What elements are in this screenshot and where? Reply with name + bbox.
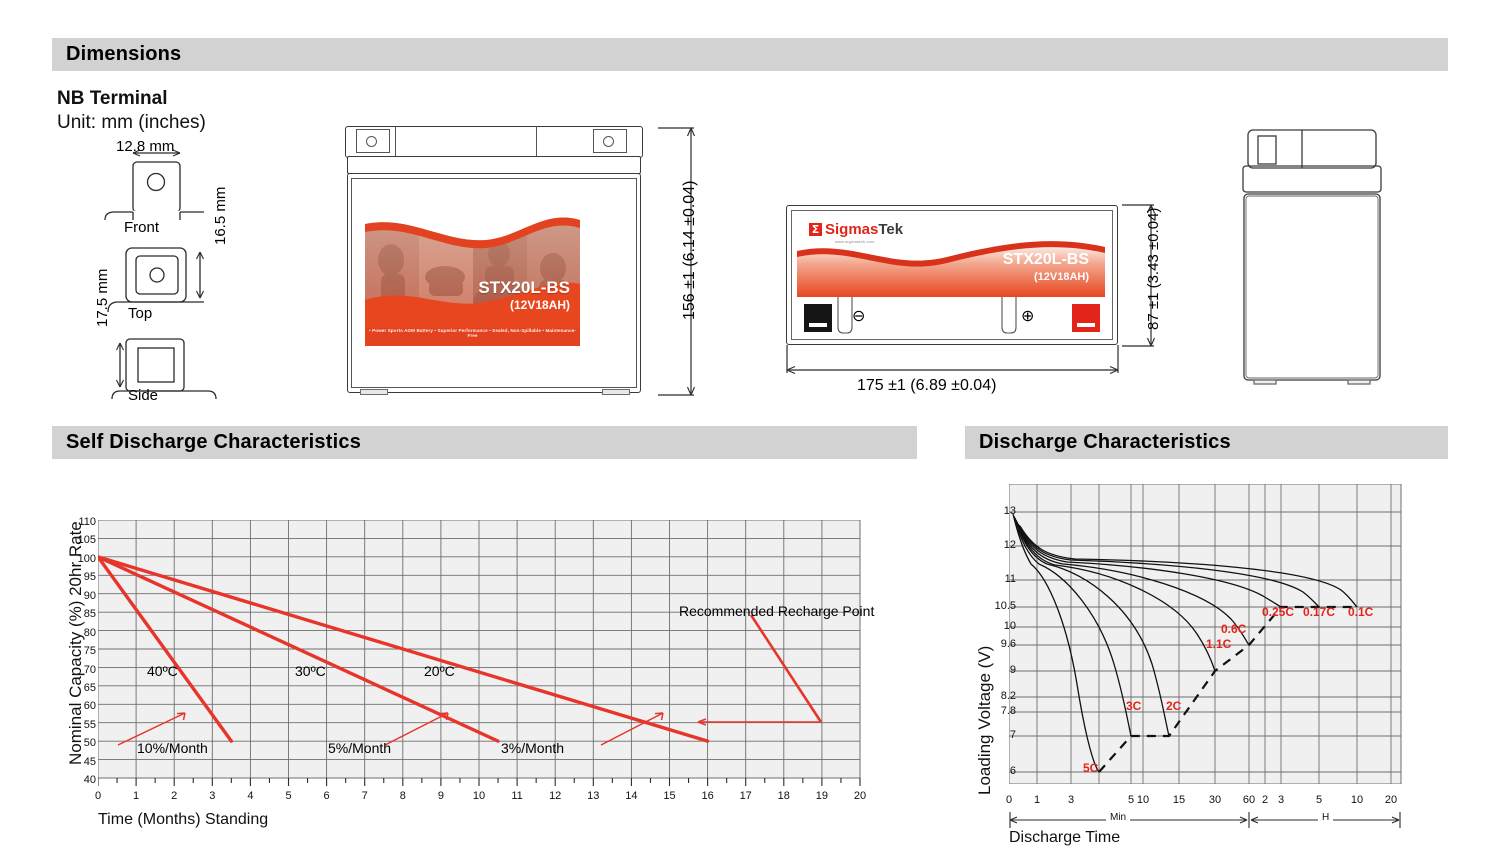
y-tick: 100 <box>70 550 96 568</box>
y-tick: 9 <box>982 664 1016 676</box>
brand-tek: Tek <box>878 221 903 238</box>
y-tick: 75 <box>70 642 96 660</box>
y-tick: 10 <box>982 620 1016 632</box>
y-tick: 13 <box>982 505 1016 517</box>
x-tick: 10 <box>1349 794 1365 806</box>
x-tick: 0 <box>1001 794 1017 806</box>
annotation-30c: 30ºC <box>295 663 326 679</box>
label-artwork <box>365 182 580 346</box>
terminal-height-label: 16.5 mm <box>212 187 229 245</box>
x-tick: 5 <box>1311 794 1327 806</box>
y-tick: 55 <box>70 716 96 734</box>
unit-note: Unit: mm (inches) <box>57 112 206 134</box>
y-tick: 110 <box>70 513 96 531</box>
annotation-20c: 20ºC <box>424 663 455 679</box>
y-tick: 70 <box>70 661 96 679</box>
cap-divider-right <box>536 126 537 158</box>
terminal-side-label: Side <box>128 387 158 404</box>
battery-spec-front: (12V18AH) <box>365 298 570 312</box>
curve-label-2c: 2C <box>1166 699 1181 713</box>
y-tick: 60 <box>70 697 96 715</box>
section-header-self-discharge: Self Discharge Characteristics <box>52 426 917 459</box>
y-tick: 65 <box>70 679 96 697</box>
y-tick: 9.6 <box>982 638 1016 650</box>
self-discharge-xlabel: Time (Months) Standing <box>98 811 860 829</box>
battery-end-view <box>1232 128 1400 400</box>
y-tick: 12 <box>982 539 1016 551</box>
range-label-hour: H <box>1318 812 1333 823</box>
self-discharge-title: Self Discharge Characteristics <box>52 431 361 454</box>
terminal-right-hole <box>603 136 614 147</box>
y-tick: 7.8 <box>982 705 1016 717</box>
cap-divider-left <box>395 126 396 158</box>
curve-label-5c: 5C <box>1083 761 1098 775</box>
y-tick: 85 <box>70 605 96 623</box>
terminal-depth-label: 17.5 mm <box>94 269 111 327</box>
y-tick: 8.2 <box>982 690 1016 702</box>
discharge-chart <box>1009 484 1409 784</box>
nb-terminal-heading: NB Terminal <box>57 88 168 110</box>
curve-label-1-1c: 1.1C <box>1206 637 1231 651</box>
battery-features: • Power Sports AGM Battery • Superior Pe… <box>365 328 580 338</box>
foot-right <box>602 389 630 395</box>
y-tick: 80 <box>70 624 96 642</box>
discharge-title: Discharge Characteristics <box>965 431 1231 454</box>
terminal-left-hole <box>366 136 377 147</box>
y-tick: 95 <box>70 568 96 586</box>
x-tick: 1 <box>1029 794 1045 806</box>
x-tick: 10 <box>1135 794 1151 806</box>
x-tick: 3 <box>1063 794 1079 806</box>
annotation-10-percent-month: 10%/Month <box>137 740 208 756</box>
self-discharge-xlabel-wrap: Time (Months) Standing <box>98 793 860 829</box>
discharge-xlabel: Discharge Time <box>1009 829 1120 847</box>
range-label-min: Min <box>1106 812 1130 823</box>
battery-side-view: Σ SigmasTek www.sigmastek.com STX20L-BS … <box>786 205 1118 345</box>
curve-label-0-1c: 0.1C <box>1348 605 1373 619</box>
curve-label-0-6c: 0.6C <box>1221 622 1246 636</box>
y-tick: 7 <box>982 729 1016 741</box>
x-tick: 20 <box>1383 794 1399 806</box>
battery-spec-side: (12V18AH) <box>797 271 1089 283</box>
terminal-front-label: Front <box>124 219 159 236</box>
terminal-top-label: Top <box>128 305 152 322</box>
battery-lid <box>347 156 641 174</box>
side-width-label: 175 ±1 (6.89 ±0.04) <box>857 377 996 395</box>
side-height-label: 87 ±1 (3.43 ±0.04) <box>1145 208 1162 330</box>
battery-model-front: STX20L-BS <box>365 278 570 298</box>
side-vent-channels <box>786 297 1118 345</box>
discharge-x-ticks: 0 1 3 5 10 15 30 60 2 3 5 10 20 <box>1009 794 1401 808</box>
brand-sigmas: Sigmas <box>825 221 878 238</box>
front-height-label: 156 ±1 (6.14 ±0.04) <box>681 181 699 320</box>
battery-front-view: Σ SigmasTek www.sigmastek.com <box>340 126 648 396</box>
discharge-y-ticks: 13 12 11 10.5 10 9.6 9 8.2 7.8 7 6 <box>982 484 1016 784</box>
annotation-40c: 40ºC <box>147 663 178 679</box>
battery-front-label: Σ SigmasTek www.sigmastek.com <box>365 182 580 346</box>
y-tick: 6 <box>982 765 1016 777</box>
annotation-5-percent-month: 5%/Month <box>328 740 391 756</box>
battery-side-label: Σ SigmasTek www.sigmastek.com STX20L-BS … <box>797 217 1105 297</box>
side-brand-logo: Σ SigmasTek <box>809 222 903 237</box>
y-tick: 45 <box>70 753 96 771</box>
y-tick: 105 <box>70 531 96 549</box>
dimensions-title: Dimensions <box>52 43 181 66</box>
terminal-width-label: 12.8 mm <box>116 138 174 155</box>
x-tick: 15 <box>1171 794 1187 806</box>
side-brand-url: www.sigmastek.com <box>835 239 875 244</box>
section-header-discharge: Discharge Characteristics <box>965 426 1448 459</box>
y-tick: 40 <box>70 771 96 789</box>
x-tick: 30 <box>1207 794 1223 806</box>
sigma-glyph-icon: Σ <box>809 223 822 236</box>
curve-label-0-17c: 0.17C <box>1303 605 1335 619</box>
self-discharge-chart <box>98 520 868 820</box>
y-tick: 90 <box>70 587 96 605</box>
annotation-recharge-point: Recommended Recharge Point <box>679 603 874 619</box>
battery-model-side: STX20L-BS <box>797 251 1089 269</box>
x-tick: 3 <box>1273 794 1289 806</box>
section-header-dimensions: Dimensions <box>52 38 1448 71</box>
x-tick: 2 <box>1257 794 1273 806</box>
y-tick: 11 <box>982 573 1016 585</box>
curve-label-0-25c: 0.25C <box>1262 605 1294 619</box>
y-tick: 10.5 <box>982 600 1016 612</box>
x-tick: 60 <box>1241 794 1257 806</box>
annotation-3-percent-month: 3%/Month <box>501 740 564 756</box>
side-width-dimension <box>786 345 1120 379</box>
curve-label-3c: 3C <box>1126 699 1141 713</box>
foot-left <box>360 389 388 395</box>
self-discharge-y-ticks: 110 105 100 95 90 85 80 75 70 65 60 55 5… <box>70 513 96 790</box>
y-tick: 50 <box>70 734 96 752</box>
